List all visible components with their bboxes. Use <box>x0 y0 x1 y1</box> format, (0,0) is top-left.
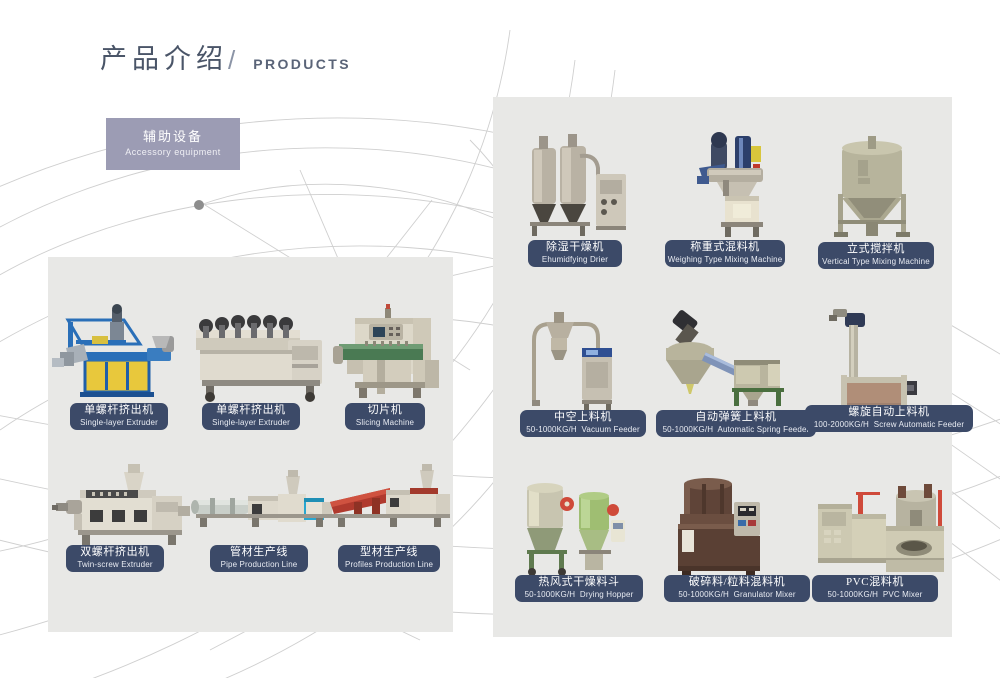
product-name-en: Slicing Machine <box>356 418 414 429</box>
product-card-slicing-machine[interactable]: 切片机 Slicing Machine <box>325 300 450 440</box>
machine-image-twin-screw-extruder <box>52 462 192 547</box>
product-card-weighing-mixer[interactable]: 称重式混料机 Weighing Type Mixing Machine <box>665 120 805 270</box>
machine-image-drying-hopper <box>515 470 655 580</box>
product-name-cn: 单螺杆挤出机 <box>216 404 286 418</box>
product-name-en: Single-layer Extruder <box>212 418 290 429</box>
title-slash: / <box>228 47 235 73</box>
product-card-twin-screw-extruder[interactable]: 双螺杆挤出机 Twin-screw Extruder <box>52 462 192 582</box>
product-tag[interactable]: 螺旋自动上料机 100-2000KG/H Screw Automatic Fee… <box>805 405 973 432</box>
product-name-cn: 立式搅拌机 <box>847 243 905 257</box>
product-name-en: Profiles Production Line <box>345 560 433 571</box>
product-tag[interactable]: 中空上料机 50-1000KG/H Vacuum Feeder <box>520 410 646 437</box>
product-card-pipe-production-line[interactable]: 管材生产线 Pipe Production Line <box>190 462 335 582</box>
product-tag[interactable]: PVC混料机 50-1000KG/H PVC Mixer <box>812 575 938 602</box>
machine-image-pipe-production-line <box>190 462 335 547</box>
product-spec: 50-1000KG/H PVC Mixer <box>828 590 923 601</box>
product-name-cn: 热风式干燥料斗 <box>538 576 619 590</box>
machine-image-dehumidifying-drier <box>520 130 650 238</box>
product-name-en: Twin-screw Extruder <box>77 560 152 571</box>
product-card-profiles-production-line[interactable]: 型材生产线 Profiles Production Line <box>328 462 453 582</box>
machine-image-roller-conveyor-machine <box>188 300 328 405</box>
product-tag[interactable]: 型材生产线 Profiles Production Line <box>338 545 440 572</box>
product-name-cn: 称重式混料机 <box>690 241 760 255</box>
product-name-cn: 中空上料机 <box>554 411 612 425</box>
product-card-spring-feeder[interactable]: 自动弹簧上料机 50-1000KG/H Automatic Spring Fee… <box>660 300 805 440</box>
product-name-cn: 螺旋自动上料机 <box>848 406 929 420</box>
product-spec: 100-2000KG/H Screw Automatic Feeder <box>814 420 964 431</box>
product-tag[interactable]: 立式搅拌机 Vertical Type Mixing Machine <box>818 242 934 269</box>
product-name-cn: 破碎料/粒料混料机 <box>689 576 785 590</box>
product-name-en: Pipe Production Line <box>221 560 298 571</box>
product-tag[interactable]: 自动弹簧上料机 50-1000KG/H Automatic Spring Fee… <box>656 410 816 437</box>
product-spec: 50-1000KG/H Granulator Mixer <box>678 590 795 601</box>
machine-image-profiles-production-line <box>328 462 453 547</box>
machine-image-screw-feeder <box>815 295 950 410</box>
category-label-cn: 辅助设备 <box>143 129 203 146</box>
machine-image-vertical-mixer <box>818 128 948 240</box>
product-card-dehumidifying-drier[interactable]: 除湿干燥机 Ehumidfying Drier <box>520 130 650 270</box>
product-name-cn: 除湿干燥机 <box>546 241 604 255</box>
machine-image-granulator-mixer <box>672 470 802 580</box>
machine-image-slicing-machine <box>325 300 450 405</box>
product-tag[interactable]: 管材生产线 Pipe Production Line <box>210 545 308 572</box>
machine-image-spring-feeder <box>660 300 805 412</box>
machine-image-pvc-mixer <box>812 470 952 580</box>
product-name-cn: 单螺杆挤出机 <box>84 404 154 418</box>
product-spec: 50-1000KG/H Automatic Spring Feeder <box>663 425 810 436</box>
category-accessory-equipment[interactable]: 辅助设备 Accessory equipment <box>106 118 240 170</box>
product-name-cn: 自动弹簧上料机 <box>695 411 776 425</box>
product-spec: 50-1000KG/H Drying Hopper <box>525 590 634 601</box>
product-tag[interactable]: 单螺杆挤出机 Single-layer Extruder <box>70 403 168 430</box>
page-title-cn: 产品介绍 <box>100 46 228 73</box>
product-tag[interactable]: 双螺杆挤出机 Twin-screw Extruder <box>66 545 164 572</box>
machine-image-extruder-blue-yellow <box>52 300 187 405</box>
page-title: 产品介绍 / PRODUCTS <box>100 46 351 73</box>
product-card-single-layer-extruder-2[interactable]: 单螺杆挤出机 Single-layer Extruder <box>188 300 328 440</box>
machine-image-weighing-mixer <box>665 120 805 238</box>
product-name-cn: 管材生产线 <box>230 546 288 560</box>
product-card-screw-feeder[interactable]: 螺旋自动上料机 100-2000KG/H Screw Automatic Fee… <box>815 295 950 440</box>
product-card-granulator-mixer[interactable]: 破碎料/粒料混料机 50-1000KG/H Granulator Mixer <box>672 470 802 605</box>
product-tag[interactable]: 除湿干燥机 Ehumidfying Drier <box>528 240 622 267</box>
product-tag[interactable]: 破碎料/粒料混料机 50-1000KG/H Granulator Mixer <box>664 575 810 602</box>
product-name-cn: 型材生产线 <box>360 546 418 560</box>
product-card-single-layer-extruder-1[interactable]: 单螺杆挤出机 Single-layer Extruder <box>52 300 187 440</box>
product-card-vacuum-feeder[interactable]: 中空上料机 50-1000KG/H Vacuum Feeder <box>520 300 650 440</box>
product-card-pvc-mixer[interactable]: PVC混料机 50-1000KG/H PVC Mixer <box>812 470 952 605</box>
product-tag[interactable]: 称重式混料机 Weighing Type Mixing Machine <box>665 240 785 267</box>
page-title-en: PRODUCTS <box>253 57 351 71</box>
page-canvas: 产品介绍 / PRODUCTS 辅助设备 Accessory equipment <box>0 0 1000 678</box>
product-spec: 50-1000KG/H Vacuum Feeder <box>526 425 640 436</box>
product-tag[interactable]: 切片机 Slicing Machine <box>345 403 425 430</box>
product-name-en: Single-layer Extruder <box>80 418 158 429</box>
product-tag[interactable]: 热风式干燥料斗 50-1000KG/H Drying Hopper <box>515 575 643 602</box>
product-name-en: Weighing Type Mixing Machine <box>668 255 783 266</box>
category-label-en: Accessory equipment <box>125 146 221 160</box>
product-card-vertical-mixer[interactable]: 立式搅拌机 Vertical Type Mixing Machine <box>818 128 948 270</box>
product-name-en: Vertical Type Mixing Machine <box>822 257 930 268</box>
product-card-drying-hopper[interactable]: 热风式干燥料斗 50-1000KG/H Drying Hopper <box>515 470 655 605</box>
product-tag[interactable]: 单螺杆挤出机 Single-layer Extruder <box>202 403 300 430</box>
product-name-en: Ehumidfying Drier <box>542 255 608 266</box>
product-name-cn: PVC混料机 <box>846 576 904 590</box>
product-name-cn: 切片机 <box>368 404 403 418</box>
machine-image-vacuum-feeder <box>520 300 650 412</box>
product-name-cn: 双螺杆挤出机 <box>80 546 150 560</box>
